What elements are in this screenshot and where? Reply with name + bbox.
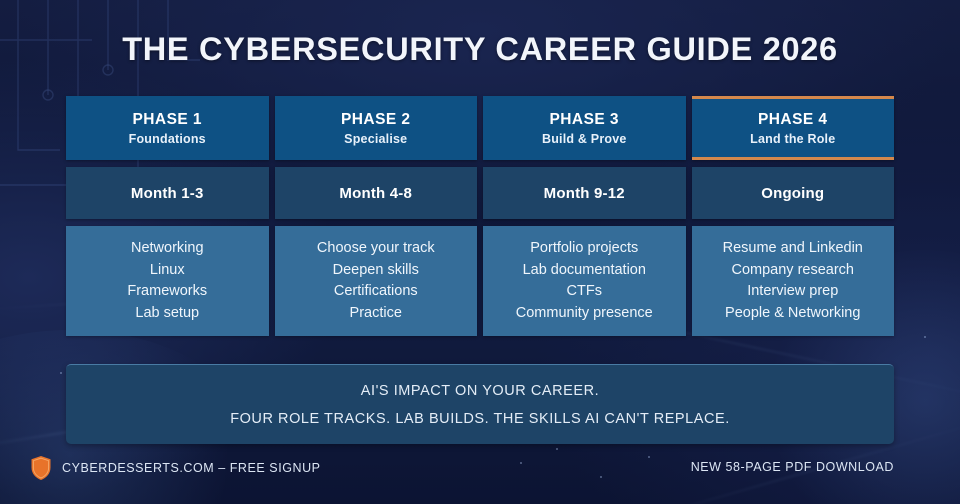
banner-line-1: AI'S IMPACT ON YOUR CAREER. — [361, 383, 599, 399]
items-cell-2[interactable]: Choose your track Deepen skills Certific… — [275, 226, 478, 336]
month-cell-4[interactable]: Ongoing — [692, 167, 895, 219]
month-cell-2[interactable]: Month 4-8 — [275, 167, 478, 219]
month-cell-3[interactable]: Month 9-12 — [483, 167, 686, 219]
month-label: Month 9-12 — [544, 185, 625, 202]
list-item: Interview prep — [747, 281, 838, 303]
list-item: CTFs — [567, 281, 602, 303]
month-label: Ongoing — [761, 185, 824, 202]
list-item: Company research — [732, 260, 855, 282]
list-item: Portfolio projects — [530, 238, 638, 260]
list-item: Practice — [350, 303, 402, 325]
list-item: Lab documentation — [523, 260, 646, 282]
phase-subtitle: Build & Prove — [542, 132, 627, 146]
page-title: THE CYBERSECURITY CAREER GUIDE 2026 — [0, 31, 960, 68]
list-item: Choose your track — [317, 238, 435, 260]
items-cell-4[interactable]: Resume and Linkedin Company research Int… — [692, 226, 895, 336]
summary-banner: AI'S IMPACT ON YOUR CAREER. FOUR ROLE TR… — [66, 364, 894, 444]
phase-title: PHASE 3 — [550, 111, 619, 129]
items-cell-3[interactable]: Portfolio projects Lab documentation CTF… — [483, 226, 686, 336]
phase-header-1[interactable]: PHASE 1 Foundations — [66, 96, 269, 160]
phase-title: PHASE 1 — [133, 111, 202, 129]
phase-grid: PHASE 1 Foundations PHASE 2 Specialise P… — [66, 96, 894, 336]
footer-right-text[interactable]: NEW 58-PAGE PDF DOWNLOAD — [691, 460, 894, 474]
phase-title: PHASE 4 — [758, 111, 827, 129]
phase-header-3[interactable]: PHASE 3 Build & Prove — [483, 96, 686, 160]
phase-subtitle: Land the Role — [750, 132, 835, 146]
list-item: Lab setup — [135, 303, 199, 325]
banner-line-2: FOUR ROLE TRACKS. LAB BUILDS. THE SKILLS… — [230, 411, 730, 427]
list-item: Linux — [150, 260, 185, 282]
footer-brand[interactable]: CYBERDESSERTS.COM – FREE SIGNUP — [30, 455, 321, 481]
list-item: Networking — [131, 238, 204, 260]
list-item: Deepen skills — [333, 260, 419, 282]
footer: CYBERDESSERTS.COM – FREE SIGNUP NEW 58-P… — [0, 455, 960, 485]
list-item: Frameworks — [127, 281, 207, 303]
phase-header-4[interactable]: PHASE 4 Land the Role — [692, 96, 895, 160]
list-item: Community presence — [516, 303, 653, 325]
month-cell-1[interactable]: Month 1-3 — [66, 167, 269, 219]
footer-left-text: CYBERDESSERTS.COM – FREE SIGNUP — [62, 461, 321, 475]
items-cell-1[interactable]: Networking Linux Frameworks Lab setup — [66, 226, 269, 336]
list-item: Resume and Linkedin — [723, 238, 863, 260]
phase-subtitle: Foundations — [129, 132, 206, 146]
phase-title: PHASE 2 — [341, 111, 410, 129]
list-item: People & Networking — [725, 303, 860, 325]
list-item: Certifications — [334, 281, 418, 303]
shield-icon — [30, 455, 52, 481]
month-label: Month 4-8 — [339, 185, 412, 202]
phase-header-2[interactable]: PHASE 2 Specialise — [275, 96, 478, 160]
month-label: Month 1-3 — [131, 185, 204, 202]
phase-subtitle: Specialise — [344, 132, 407, 146]
